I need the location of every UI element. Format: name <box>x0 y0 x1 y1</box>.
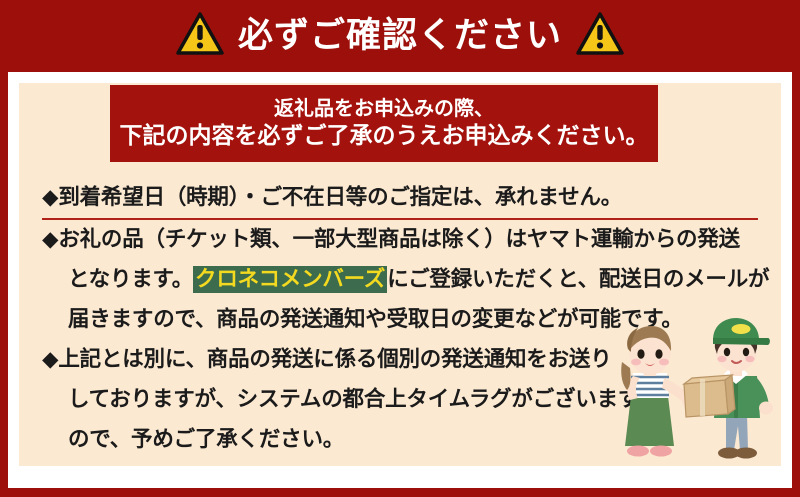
warning-triangle-icon <box>576 12 624 60</box>
parcel <box>684 375 735 417</box>
notice-item: ◆到着希望日（時期）・ご不在日等のご指定は、承れません。 <box>42 178 772 220</box>
banner-line-1: 返礼品をお申込みの際、 <box>274 97 494 120</box>
page-title: 必ずご確認ください <box>238 19 562 54</box>
notice-line-part: となります。 <box>68 267 193 292</box>
kuroneko-members-highlight: クロネコメンバーズ <box>193 266 387 293</box>
page-header: 必ずご確認ください <box>0 0 800 72</box>
frame-right-border <box>792 0 800 497</box>
notice-line: ◆お礼の品（チケット類、一部大型商品は除く）はヤマト運輸からの発送 <box>42 220 772 260</box>
warning-triangle-icon <box>176 12 224 60</box>
notice-banner-page: 必ずご確認ください 返礼品をお申込みの際、 下記の内容を必ずご了承のうえお申込み… <box>0 0 800 497</box>
notice-line-part: にご登録いただくと、配送日のメールが <box>387 267 769 292</box>
delivery-handover-illustration <box>600 318 782 466</box>
frame-left-border <box>0 0 8 497</box>
banner-line-2: 下記の内容を必ずご了承のうえお申込みください。 <box>120 123 649 149</box>
frame-bottom-border <box>0 488 800 497</box>
notice-line: となります。クロネコメンバーズにご登録いただくと、配送日のメールが <box>42 260 772 300</box>
notice-line: ◆到着希望日（時期）・ご不在日等のご指定は、承れません。 <box>42 178 758 220</box>
instruction-banner: 返礼品をお申込みの際、 下記の内容を必ずご了承のうえお申込みください。 <box>110 85 658 162</box>
